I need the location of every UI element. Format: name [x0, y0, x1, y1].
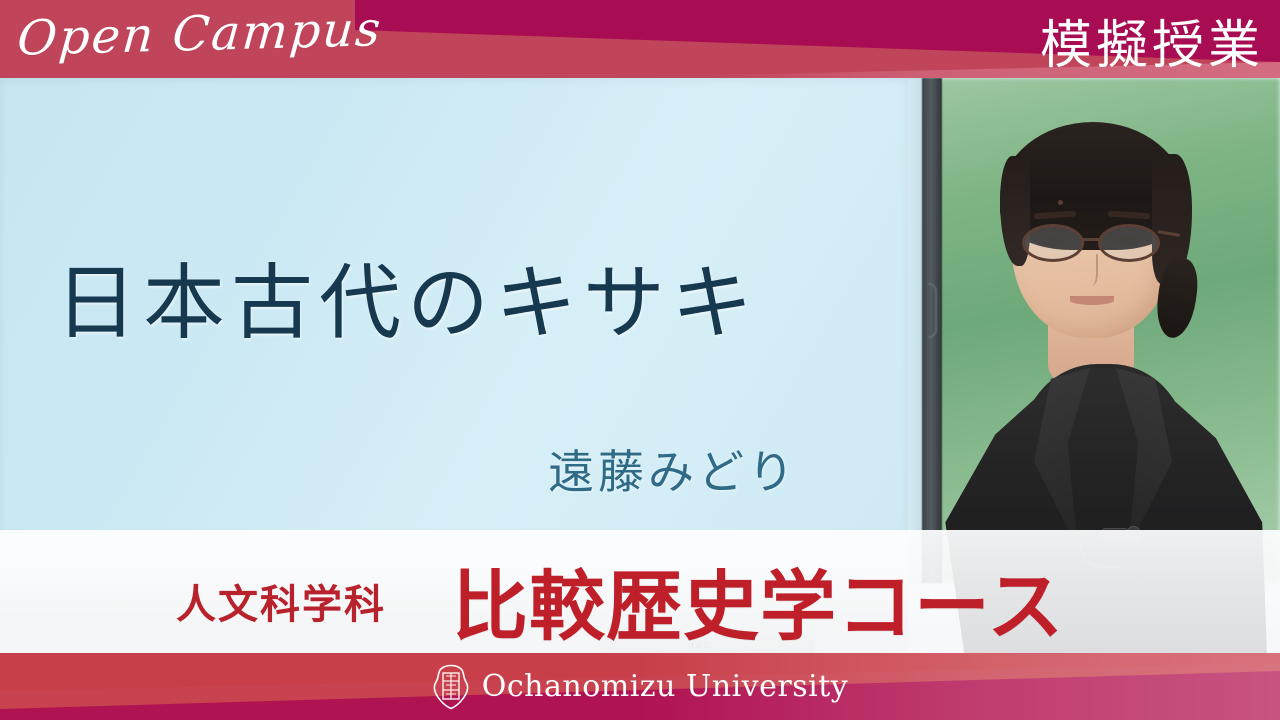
facial-mole: [1058, 200, 1063, 205]
glasses-lens-right: [1098, 224, 1160, 262]
university-brand: Ochanomizu University: [0, 653, 1280, 720]
course-title: 比較歴史学コース: [452, 545, 1064, 655]
open-campus-logo: Open Campus: [15, 1, 384, 67]
ochanomizu-university-crest-icon: [432, 664, 470, 710]
banner-section-label: 模擬授業: [1040, 3, 1264, 78]
slide-title: 日本古代のキサキ: [55, 236, 759, 355]
top-banner: Open Campus 模擬授業: [0, 0, 1280, 78]
slide-author: 遠藤みどり: [548, 436, 798, 502]
video-frame: 日本古代のキサキ 遠藤みどり JVC: [0, 0, 1280, 720]
glasses-lens-left: [1022, 224, 1084, 262]
nose: [1082, 254, 1098, 286]
university-name: Ochanomizu University: [482, 669, 848, 704]
footer-band: Ochanomizu University: [0, 653, 1280, 720]
department-label: 人文科学科: [176, 572, 386, 630]
mouth: [1070, 296, 1114, 305]
presentation-slide: 日本古代のキサキ 遠藤みどり: [0, 78, 908, 533]
glasses-bridge: [1082, 238, 1100, 241]
